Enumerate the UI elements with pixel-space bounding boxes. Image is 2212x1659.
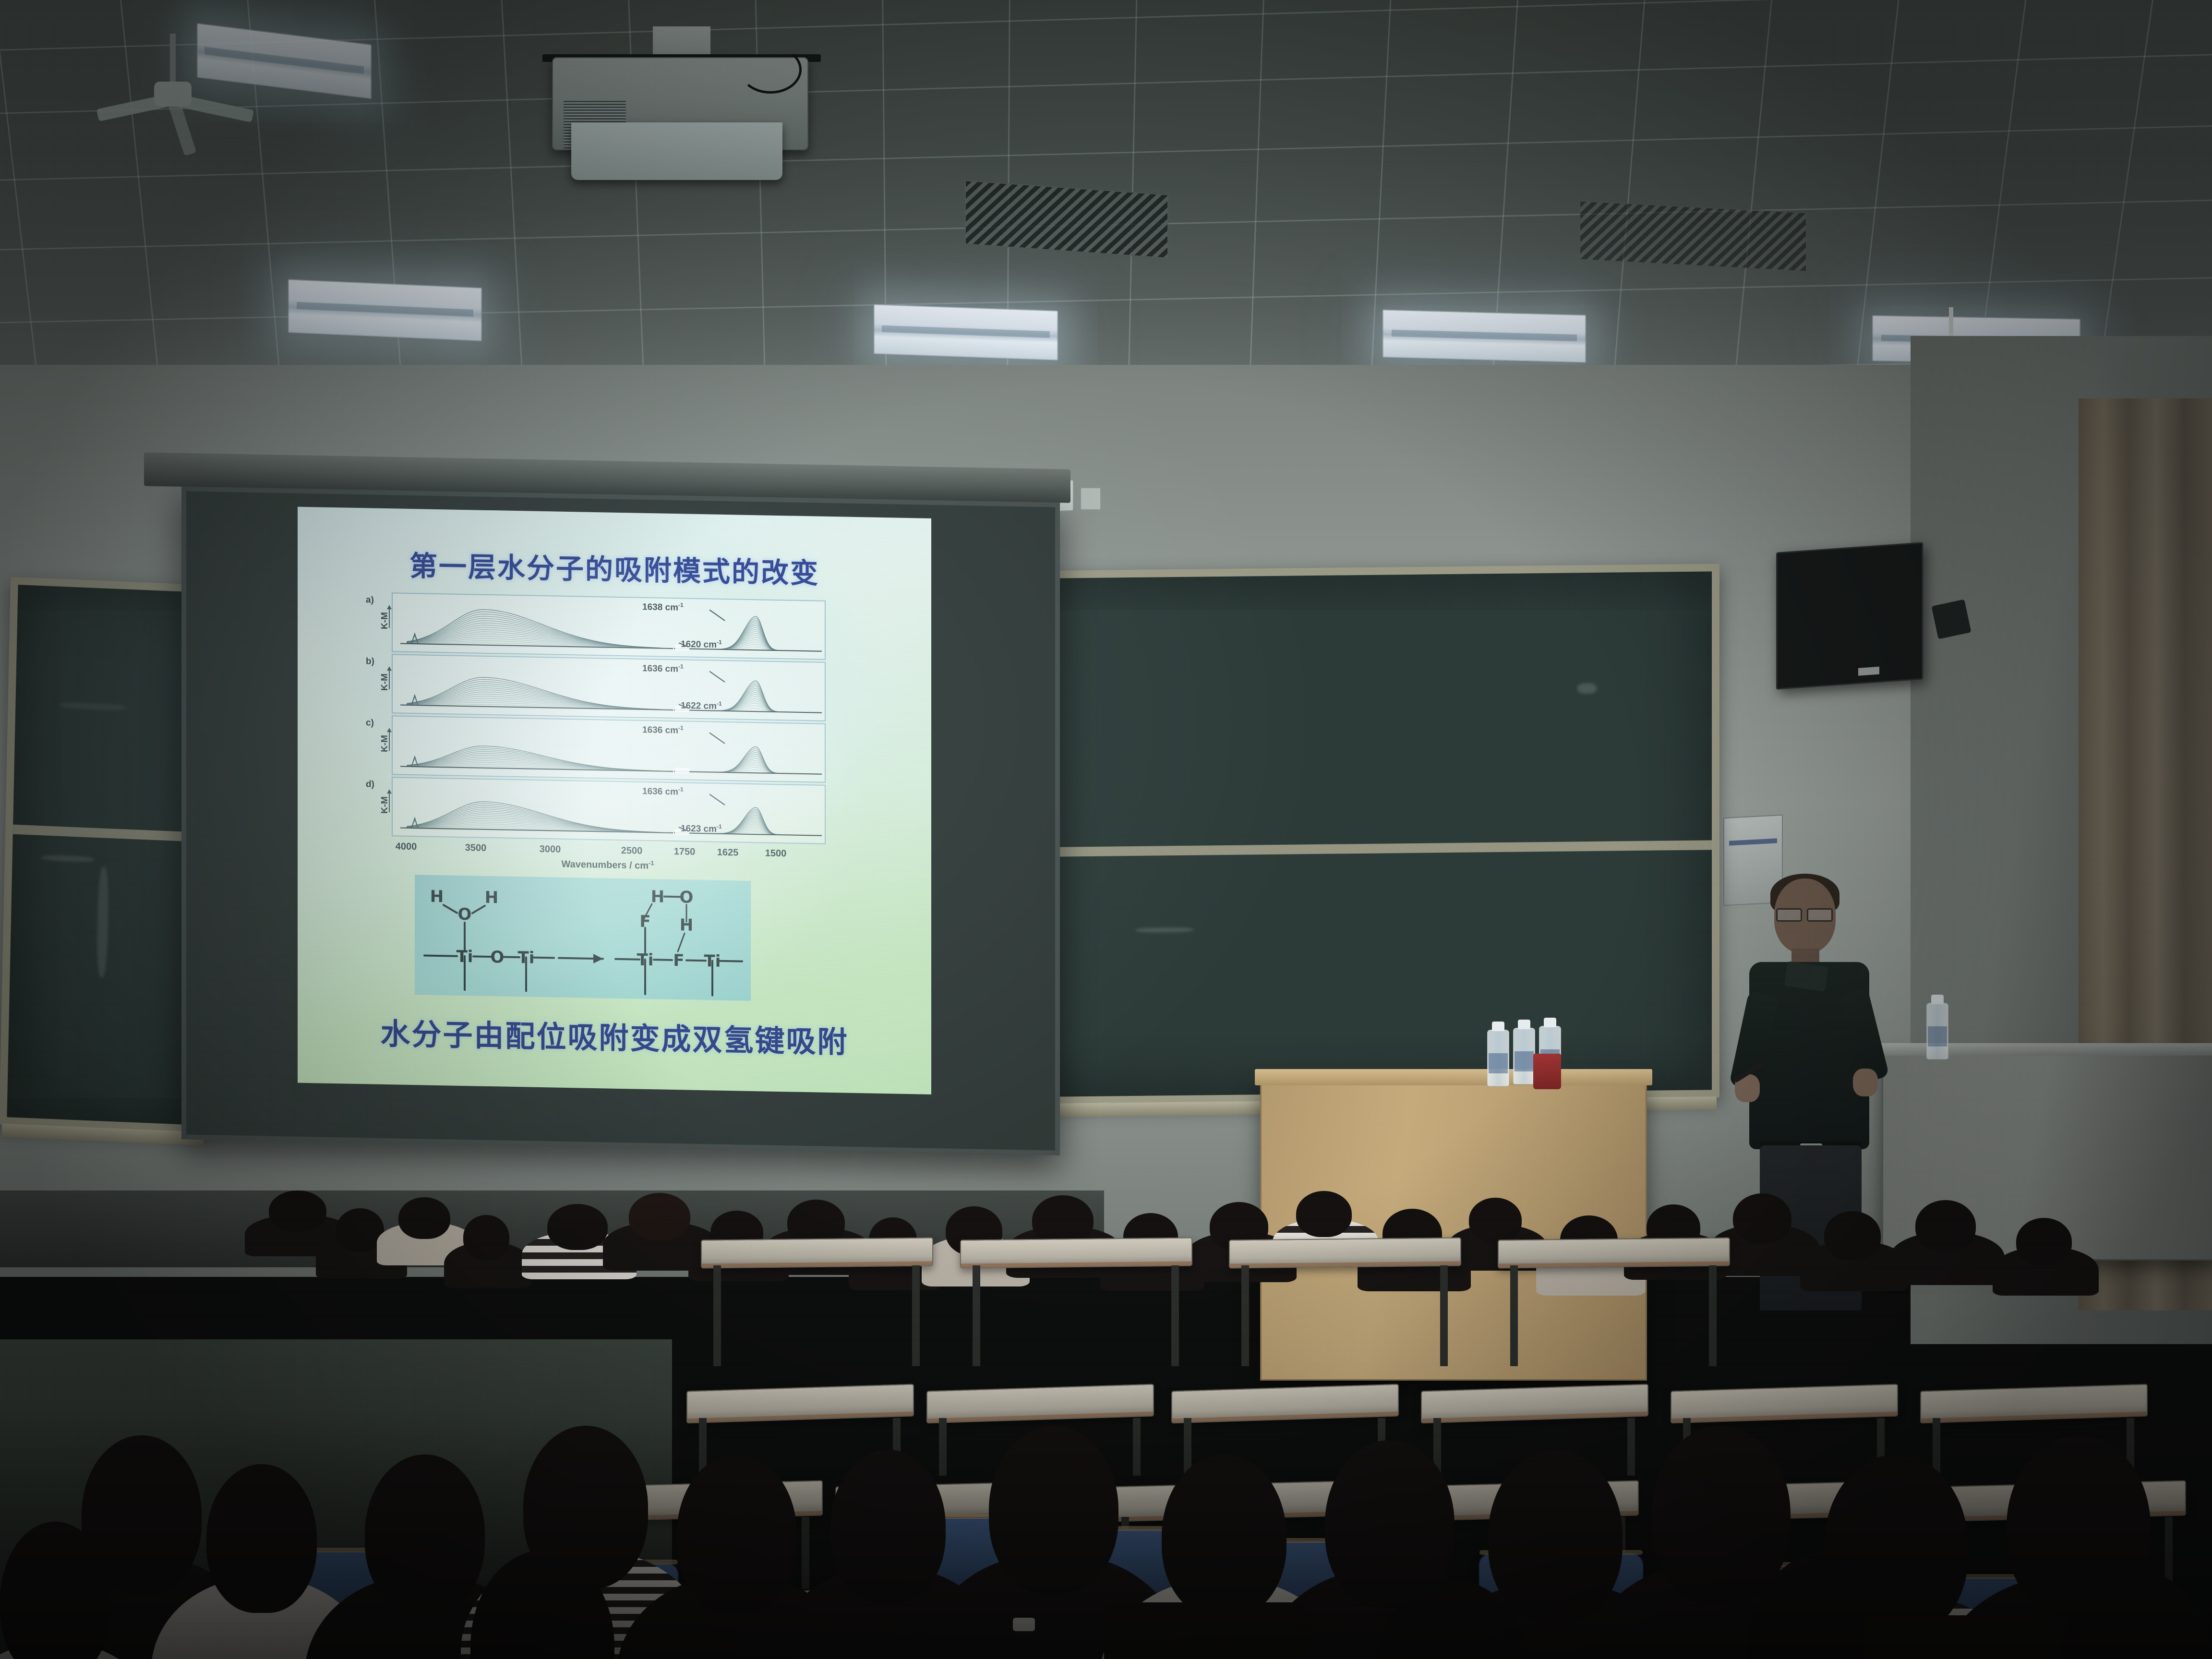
axis-break-gap: [675, 768, 689, 774]
student-desk: [701, 1237, 933, 1268]
desk-leg: [1241, 1265, 1249, 1366]
atom-O: O: [680, 888, 694, 907]
atom-O: O: [491, 948, 505, 967]
audience: [0, 1118, 2212, 1659]
atom-H: H: [485, 888, 498, 908]
student-desk: [1498, 1237, 1730, 1268]
atom-O: O: [458, 905, 472, 925]
ceiling-light-3: [1382, 309, 1586, 362]
reaction-scheme: H O H Ti O Ti H O F H Ti F Ti: [415, 875, 751, 1001]
ir-panel-a: a) K-M 1638 cm-11620 cm-1: [392, 592, 826, 660]
projector-cable: [739, 46, 802, 94]
desk-leg: [1171, 1265, 1179, 1366]
chalkboard-divider: [13, 825, 205, 842]
audience-head: [2016, 1218, 2072, 1265]
main-chalkboard: [1003, 564, 1719, 1105]
fan-blade: [96, 93, 174, 121]
audience-head: [269, 1190, 326, 1231]
audience-head: [463, 1215, 509, 1260]
panel-label-d: d): [366, 779, 374, 790]
audience-head: [1824, 1211, 1881, 1260]
peak-annotation: 1636 cm-1: [642, 724, 684, 736]
chalk-smudge: [59, 702, 126, 711]
foreground-shadow: [0, 1411, 2212, 1659]
intensity-arrow-icon: [389, 790, 390, 812]
audience-head: [629, 1193, 690, 1240]
audience-head: [547, 1204, 608, 1250]
audience-head: [1032, 1195, 1094, 1245]
desk-leg: [713, 1265, 721, 1366]
ir-traces-a: [393, 593, 825, 659]
ceiling-light-2: [874, 304, 1058, 360]
projector-lens-housing: [571, 122, 782, 180]
peak-annotation: 1638 cm-1: [642, 601, 684, 613]
control-panel-stripe: [1729, 838, 1778, 845]
x-tick-4000: 4000: [396, 841, 417, 853]
ir-traces-d: [393, 778, 825, 843]
intensity-arrow-icon: [389, 729, 390, 751]
x-tick-3500: 3500: [465, 842, 487, 854]
audience-head: [1733, 1193, 1791, 1243]
atom-F: F: [639, 912, 650, 931]
chalk-smudge: [1136, 927, 1193, 933]
student-desk: [1229, 1237, 1461, 1268]
desk-leg: [1510, 1265, 1518, 1366]
peak-annotation: 1636 cm-1: [642, 785, 684, 798]
peak-annotation: 1623 cm-1: [681, 822, 722, 835]
audience-head: [1469, 1198, 1522, 1242]
intensity-arrow-icon: [389, 606, 390, 628]
projection-screen: 第一层水分子的吸附模式的改变 a) K-M 1638 cm-11620 cm-1…: [181, 486, 1060, 1155]
chalk-smudge: [96, 866, 109, 977]
desk-leg: [1709, 1265, 1717, 1366]
axis-label: Wavenumbers / cm-1: [392, 854, 824, 875]
audience-head: [1915, 1200, 1976, 1251]
peak-annotation: 1620 cm-1: [681, 638, 722, 650]
slide-title: 第一层水分子的吸附模式的改变: [298, 541, 931, 593]
ir-panel-d: d) K-M 1636 cm-11623 cm-1: [392, 777, 826, 844]
glasses-icon: [1776, 908, 1833, 919]
water-bottle: [1487, 1030, 1509, 1086]
slide-caption: 水分子由配位吸附变成双氢键吸附: [298, 1008, 931, 1063]
ir-spectra-figure: a) K-M 1638 cm-11620 cm-1 b) K-M: [355, 592, 874, 875]
speaker-badge: [1858, 667, 1879, 676]
audience-head: [1296, 1191, 1352, 1237]
red-cup: [1533, 1054, 1561, 1089]
atom-Ti: Ti: [637, 950, 654, 970]
desk-leg: [912, 1265, 920, 1366]
axis-label-text: Wavenumbers / cm: [561, 859, 649, 871]
x-tick-1625: 1625: [717, 847, 739, 859]
reaction-arrow-head: [593, 954, 603, 963]
desk-leg: [1440, 1265, 1448, 1366]
fan-rod: [170, 34, 176, 86]
intensity-arrow-icon: [389, 667, 390, 689]
ir-panel-c: c) K-M 1636 cm-1: [392, 715, 826, 783]
ir-panel-stack: a) K-M 1638 cm-11620 cm-1 b) K-M: [392, 592, 824, 846]
lectern-top-surface: [1255, 1069, 1652, 1085]
ceiling-fan: [101, 34, 245, 130]
x-tick-2500: 2500: [621, 845, 643, 857]
desk-leg: [973, 1265, 980, 1366]
wall-speaker: [1776, 542, 1923, 689]
lecture-hall-photo: 第一层水分子的吸附模式的改变 a) K-M 1638 cm-11620 cm-1…: [0, 0, 2212, 1659]
x-tick-1500: 1500: [765, 848, 787, 860]
water-bottle: [1926, 1003, 1948, 1059]
atom-Ti: Ti: [704, 951, 721, 971]
presenter-right-hand: [1853, 1069, 1878, 1096]
atom-H: H: [651, 887, 664, 907]
wavenumber-axis: Wavenumbers / cm-1 400035003000250017501…: [392, 841, 824, 876]
peak-annotation: 1636 cm-1: [642, 662, 684, 675]
ceiling-hanger-box: [1931, 599, 1971, 639]
water-bottle: [1513, 1028, 1535, 1084]
chalk-smudge: [1577, 683, 1597, 694]
ir-traces-c: [393, 716, 825, 781]
ir-traces-b: [393, 655, 825, 720]
reaction-scheme-svg: H O H Ti O Ti H O F H Ti F Ti: [415, 875, 751, 1001]
x-tick-3000: 3000: [540, 844, 561, 855]
x-tick-1750: 1750: [674, 846, 696, 858]
peak-annotation: 1622 cm-1: [681, 699, 722, 712]
atom-Ti: Ti: [518, 948, 535, 968]
presentation-slide: 第一层水分子的吸附模式的改变 a) K-M 1638 cm-11620 cm-1…: [298, 507, 931, 1094]
chalk-smudge: [41, 854, 94, 863]
atom-F: F: [673, 951, 684, 970]
air-vent-secondary: [1579, 201, 1807, 272]
atom-H: H: [430, 887, 444, 907]
ceiling-light-1: [288, 279, 482, 341]
audience-head: [398, 1197, 450, 1239]
panel-label-c: c): [366, 718, 374, 728]
panel-label-b: b): [366, 656, 374, 667]
atom-H: H: [680, 915, 693, 935]
student-desk: [960, 1237, 1192, 1268]
chalkboard-divider: [1011, 840, 1712, 857]
ir-panel-b: b) K-M 1636 cm-11622 cm-1: [392, 654, 826, 721]
wall-socket-secondary: [1080, 487, 1101, 510]
panel-label-a: a): [366, 595, 374, 605]
atom-Ti: Ti: [457, 947, 473, 967]
